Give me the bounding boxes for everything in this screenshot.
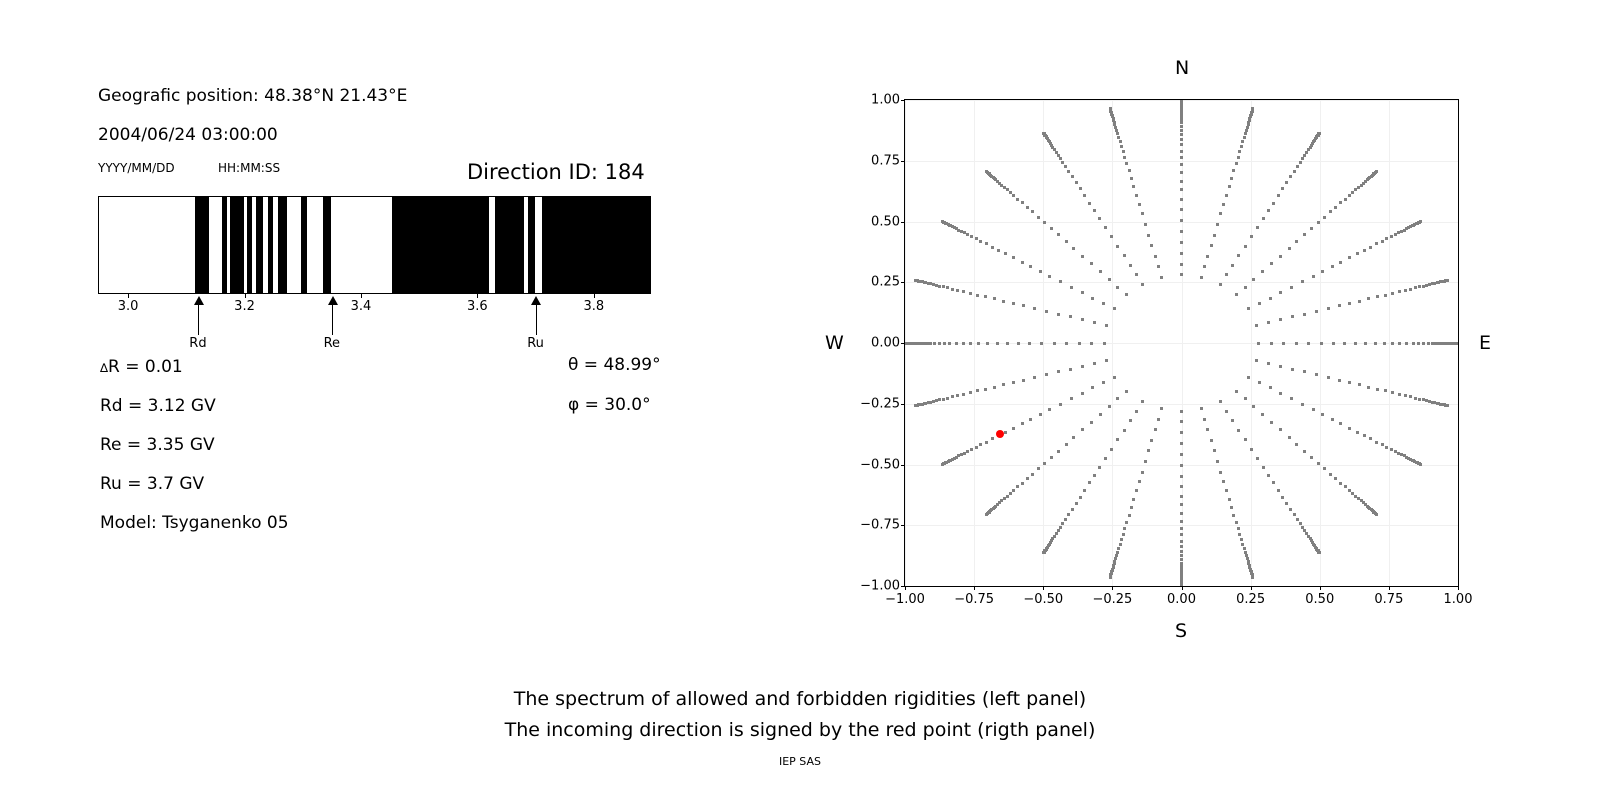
direction-dot (1028, 342, 1031, 345)
param-re: Re = 3.35 GV (100, 435, 215, 455)
direction-dot (1348, 427, 1351, 430)
direction-dot (1391, 292, 1394, 295)
direction-dot (1042, 551, 1045, 554)
direction-dot (1006, 188, 1009, 191)
direction-dot (966, 450, 969, 453)
direction-dot (1180, 129, 1183, 132)
direction-dot (1222, 203, 1225, 206)
direction-dot (985, 513, 988, 516)
direction-dot (1053, 342, 1056, 345)
direction-dot (1059, 157, 1062, 160)
direction-dot (1120, 538, 1123, 541)
direction-dot (1157, 265, 1160, 268)
direction-dot (1318, 551, 1321, 554)
direction-dot (1258, 302, 1261, 305)
direction-dot (1291, 315, 1294, 318)
direction-dot (1016, 485, 1019, 488)
direction-dot (1299, 522, 1302, 525)
compass-east-label: E (1479, 332, 1491, 354)
direction-dot (1180, 420, 1183, 423)
direction-dot (1180, 138, 1183, 141)
direction-dot (1099, 270, 1102, 273)
direction-dot (1070, 286, 1073, 289)
grid-line-horizontal (905, 282, 1458, 283)
direction-dot (1105, 359, 1108, 362)
direction-dot (963, 452, 966, 455)
direction-dot (1277, 489, 1280, 492)
rigidity-tick-label: 3.8 (583, 299, 604, 314)
direction-dot (1255, 324, 1258, 327)
direction-dot (1307, 342, 1310, 345)
direction-dot (996, 342, 999, 345)
forbidden-band (542, 197, 650, 293)
direction-dot (997, 249, 1000, 252)
direction-dot (1228, 185, 1231, 188)
rigidity-tick-mark (128, 294, 129, 298)
direction-dot (1339, 482, 1342, 485)
direction-dot (1230, 177, 1233, 180)
direction-dot (985, 441, 988, 444)
direction-dot (1344, 485, 1347, 488)
direction-dot (1338, 379, 1341, 382)
direction-dot (1125, 390, 1128, 393)
y-axis-tick-label: 0.50 (871, 214, 900, 229)
compass-south-label: S (1175, 620, 1187, 642)
direction-dot (1376, 388, 1379, 391)
direction-dot (1119, 543, 1122, 546)
direction-dot (1180, 453, 1183, 456)
forbidden-band (222, 197, 227, 293)
direction-dot (938, 285, 941, 288)
direction-dot (1180, 410, 1183, 413)
direction-dot (1225, 273, 1228, 276)
direction-dot (1069, 315, 1072, 318)
direction-dot (1244, 286, 1247, 289)
direction-dot (1238, 533, 1241, 536)
direction-dot (975, 237, 978, 240)
direction-dot (1289, 175, 1292, 178)
direction-dot (1281, 187, 1284, 190)
direction-dot (1093, 209, 1096, 212)
direction-dot (1250, 448, 1253, 451)
direction-dot (1081, 392, 1084, 395)
y-axis-tick-label: 0.25 (871, 275, 900, 290)
direction-dot (1369, 437, 1372, 440)
direction-dot (1057, 450, 1060, 453)
direction-dot (1348, 381, 1351, 384)
marker-label: Rd (189, 336, 206, 351)
direction-dot (932, 283, 935, 286)
direction-dot (1247, 376, 1250, 379)
direction-dot (1338, 304, 1341, 307)
rigidity-axis: 3.03.23.43.63.8RdReRu (98, 294, 653, 354)
direction-dot (1180, 150, 1183, 153)
direction-dot (951, 288, 954, 291)
direction-dot (960, 453, 963, 456)
direction-dot (1321, 413, 1324, 416)
direction-dot (1296, 518, 1299, 521)
direction-dot (1231, 264, 1234, 267)
forbidden-band (230, 197, 244, 293)
direction-dot (938, 342, 941, 345)
direction-dot (1090, 421, 1093, 424)
direction-dot (1334, 477, 1337, 480)
direction-dot (1384, 389, 1387, 392)
direction-dot (991, 246, 994, 249)
direction-dot (1115, 129, 1118, 132)
direction-dot (1277, 194, 1280, 197)
direction-dot (1285, 181, 1288, 184)
rigidity-tick-label: 3.6 (467, 299, 488, 314)
direction-dot (1057, 313, 1060, 316)
direction-dot (1446, 279, 1449, 282)
direction-dot (1004, 431, 1007, 434)
direction-dot (1210, 439, 1213, 442)
direction-dot (1200, 276, 1203, 279)
direction-dot (976, 294, 979, 297)
direction-dot (1029, 418, 1032, 421)
direction-dot (1180, 208, 1183, 211)
direction-dot (1120, 145, 1123, 148)
direction-dot (1125, 293, 1128, 296)
direction-dot (1427, 342, 1430, 345)
direction-dot (1262, 466, 1265, 469)
direction-dot (962, 290, 965, 293)
forbidden-band (278, 197, 287, 293)
direction-dot (1261, 270, 1264, 273)
direction-dot (1144, 223, 1147, 226)
direction-dot (1180, 273, 1183, 276)
direction-dot (1180, 118, 1183, 121)
direction-dot (956, 289, 959, 292)
direction-dot (935, 284, 938, 287)
direction-dot (1312, 408, 1315, 411)
direction-dot (1323, 216, 1326, 219)
direction-dot (1348, 302, 1351, 305)
y-axis-tick-label: 0.75 (871, 153, 900, 168)
direction-dot (1002, 300, 1005, 303)
direction-dot (1180, 263, 1183, 266)
direction-dot (1317, 462, 1320, 465)
forbidden-band (323, 197, 331, 293)
direction-dot (1065, 443, 1068, 446)
direction-dot (975, 446, 978, 449)
direction-dot (1243, 547, 1246, 550)
direction-dot (1128, 514, 1131, 517)
direction-dot (1206, 428, 1209, 431)
direction-dot (1075, 502, 1078, 505)
direction-dot (1258, 381, 1261, 384)
direction-dot (1270, 342, 1273, 345)
direction-dot (1364, 342, 1367, 345)
direction-dot (1235, 162, 1238, 165)
direction-dot (1002, 383, 1005, 386)
direction-dot (1129, 264, 1132, 267)
direction-dot (1135, 410, 1138, 413)
direction-dot (1141, 283, 1144, 286)
direction-dot (969, 342, 972, 345)
direction-dot (1088, 202, 1091, 205)
forbidden-band (247, 197, 251, 293)
direction-dot (948, 342, 951, 345)
direction-map-panel: N S W E −1.00−0.75−0.50−0.250.000.250.50… (820, 0, 1600, 660)
direction-dot (1391, 391, 1394, 394)
direction-dot (1358, 300, 1361, 303)
direction-dot (1132, 185, 1135, 188)
direction-dot (1088, 481, 1091, 484)
direction-dot (1135, 194, 1138, 197)
direction-dot (1315, 373, 1318, 376)
direction-dot (1091, 297, 1094, 300)
direction-dot (1045, 373, 1048, 376)
direction-dot (1456, 342, 1458, 345)
param-theta: θ = 48.99° (568, 355, 661, 375)
direction-dot (1123, 429, 1126, 432)
direction-dot (1385, 237, 1388, 240)
direction-dot (1295, 240, 1298, 243)
x-axis-tick-mark (1182, 586, 1183, 590)
direction-dot (1021, 261, 1024, 264)
direction-dot (1081, 428, 1084, 431)
direction-dot (1012, 489, 1015, 492)
direction-dot (941, 463, 944, 466)
direction-dot (1391, 342, 1394, 345)
direction-dot (1244, 132, 1247, 135)
direction-dot (1312, 275, 1315, 278)
direction-dot (1110, 448, 1113, 451)
direction-dot (1031, 210, 1034, 213)
y-axis-tick-mark (901, 161, 905, 162)
direction-dot (1332, 342, 1335, 345)
x-axis-tick-mark (1389, 586, 1390, 590)
direction-dot (1067, 513, 1070, 516)
y-axis-tick-label: 1.00 (871, 93, 900, 108)
x-axis-tick-label: 0.25 (1236, 592, 1265, 607)
direction-dot (1375, 513, 1378, 516)
direction-dot (1072, 247, 1075, 250)
direction-dot (1376, 295, 1379, 298)
direction-dot (1160, 407, 1163, 410)
direction-dot (1418, 398, 1421, 401)
direction-dot (1021, 201, 1024, 204)
direction-dot (1244, 438, 1247, 441)
direction-dot (1235, 390, 1238, 393)
direction-dot (1419, 463, 1422, 466)
direction-dot (977, 342, 980, 345)
direction-dot (1117, 547, 1120, 550)
direction-dot (1251, 576, 1254, 579)
direction-dot (1109, 576, 1112, 579)
direction-dot (1390, 235, 1393, 238)
direction-dot (946, 397, 949, 400)
x-axis-tick-mark (1458, 586, 1459, 590)
direction-dot (1303, 450, 1306, 453)
date-format-label: YYYY/MM/DD (98, 161, 175, 175)
forbidden-band (495, 197, 523, 293)
direction-dot (1279, 428, 1282, 431)
direction-dot (1180, 550, 1183, 553)
direction-dot (1358, 383, 1361, 386)
direction-dot (1267, 209, 1270, 212)
direction-dot (1310, 227, 1313, 230)
direction-dot (1108, 405, 1111, 408)
direction-dot (1180, 495, 1183, 498)
direction-dot (1232, 169, 1235, 172)
direction-dot (1339, 201, 1342, 204)
direction-dot (1180, 540, 1183, 543)
direction-dot (1081, 365, 1084, 368)
param-delta-r: ∆R = 0.01 (100, 357, 183, 377)
direction-dot (1446, 404, 1449, 407)
direction-dot (1270, 421, 1273, 424)
direction-dot (1252, 278, 1255, 281)
direction-dot (960, 230, 963, 233)
direction-dot (946, 286, 949, 289)
direction-dot (1029, 265, 1032, 268)
direction-dot (1343, 342, 1346, 345)
direction-dot (1033, 376, 1036, 379)
direction-dot (1061, 522, 1064, 525)
direction-dot (942, 285, 945, 288)
direction-dot (962, 393, 965, 396)
x-axis-tick-mark (905, 586, 906, 590)
direction-dot (1289, 508, 1292, 511)
direction-dot (1267, 362, 1270, 365)
direction-dot (1213, 449, 1216, 452)
direction-dot (1303, 313, 1306, 316)
x-axis-tick-mark (1112, 586, 1113, 590)
direction-dot (1065, 240, 1068, 243)
direction-dot (1206, 255, 1209, 258)
direction-dot (1123, 156, 1126, 159)
direction-dot (1081, 255, 1084, 258)
direction-dot (991, 437, 994, 440)
y-axis-tick-label: −0.50 (860, 457, 900, 472)
direction-dot (1071, 175, 1074, 178)
direction-dot (1241, 140, 1244, 143)
direction-dot (1061, 161, 1064, 164)
direction-dot (1160, 276, 1163, 279)
rigidity-tick-mark (594, 294, 595, 298)
marker-stem (332, 302, 333, 335)
direction-dot (1303, 233, 1306, 236)
direction-dot (1141, 471, 1144, 474)
direction-dot (985, 170, 988, 173)
direction-dot (1180, 475, 1183, 478)
direction-dot (1219, 400, 1222, 403)
direction-dot (1180, 100, 1183, 102)
direction-dot (1022, 304, 1025, 307)
direction-dot (935, 399, 938, 402)
direction-dot (942, 398, 945, 401)
param-ru: Ru = 3.7 GV (100, 474, 204, 494)
direction-dot (1057, 233, 1060, 236)
direction-dot (1269, 297, 1272, 300)
direction-dot (1102, 302, 1105, 305)
direction-dot (1083, 194, 1086, 197)
direction-dot (1230, 506, 1233, 509)
direction-dot (1419, 220, 1422, 223)
direction-dot (1295, 342, 1298, 345)
param-delta-r-value: R = 0.01 (108, 357, 183, 377)
direction-dot (1321, 270, 1324, 273)
rigidity-tick-label: 3.0 (118, 299, 139, 314)
direction-dot (1154, 428, 1157, 431)
direction-dot (1279, 392, 1282, 395)
direction-dot (1404, 289, 1407, 292)
forbidden-band (268, 197, 273, 293)
direction-dot (1180, 503, 1183, 506)
direction-dot (1039, 413, 1042, 416)
direction-dot (1128, 169, 1131, 172)
direction-dot (962, 342, 965, 345)
direction-dot (1339, 422, 1342, 425)
grid-line-horizontal (905, 404, 1458, 405)
rigidity-tick-label: 3.4 (351, 299, 372, 314)
direction-dot (1375, 170, 1378, 173)
direction-map-plot-area: −1.00−0.75−0.50−0.250.000.250.500.751.00… (904, 99, 1459, 587)
direction-dot (1108, 278, 1111, 281)
x-axis-tick-label: −1.00 (885, 592, 925, 607)
direction-dot (1042, 132, 1045, 135)
direction-dot (1339, 261, 1342, 264)
direction-dot (1282, 342, 1285, 345)
direction-dot (1250, 235, 1253, 238)
rigidity-tick-mark (477, 294, 478, 298)
direction-dot (1257, 342, 1260, 345)
direction-dot (1180, 512, 1183, 515)
direction-dot (1219, 283, 1222, 286)
direction-dot (1040, 342, 1043, 345)
direction-dot (1117, 136, 1120, 139)
y-axis-tick-mark (901, 525, 905, 526)
direction-dot (1093, 362, 1096, 365)
direction-dot (1064, 518, 1067, 521)
direction-dot (1104, 226, 1107, 229)
direction-dot (1381, 443, 1384, 446)
direction-dot (1090, 342, 1093, 345)
direction-dot (1235, 293, 1238, 296)
direction-dot (970, 235, 973, 238)
direction-dot (1279, 255, 1282, 258)
direction-dot (914, 404, 917, 407)
direction-dot (1295, 443, 1298, 446)
direction-dot (1384, 294, 1387, 297)
direction-dot (1203, 418, 1206, 421)
grid-line-horizontal (905, 161, 1458, 162)
direction-dot (1141, 212, 1144, 215)
direction-dot (1122, 533, 1125, 536)
footer-credit: IEP SAS (0, 755, 1600, 768)
direction-dot (1180, 485, 1183, 488)
direction-dot (1290, 397, 1293, 400)
direction-dot (1012, 256, 1015, 259)
direction-dot (1244, 397, 1247, 400)
direction-dot (1180, 156, 1183, 159)
direction-dot (1356, 252, 1359, 255)
direction-dot (1225, 194, 1228, 197)
direction-dot (1270, 262, 1273, 265)
direction-dot (1099, 413, 1102, 416)
direction-dot (1327, 376, 1330, 379)
direction-dot (1026, 477, 1029, 480)
direction-dot (1116, 286, 1119, 289)
direction-dot (1079, 496, 1082, 499)
direction-dot (1125, 162, 1128, 165)
direction-dot (1329, 210, 1332, 213)
direction-dot (1180, 545, 1183, 548)
direction-dot (1026, 206, 1029, 209)
